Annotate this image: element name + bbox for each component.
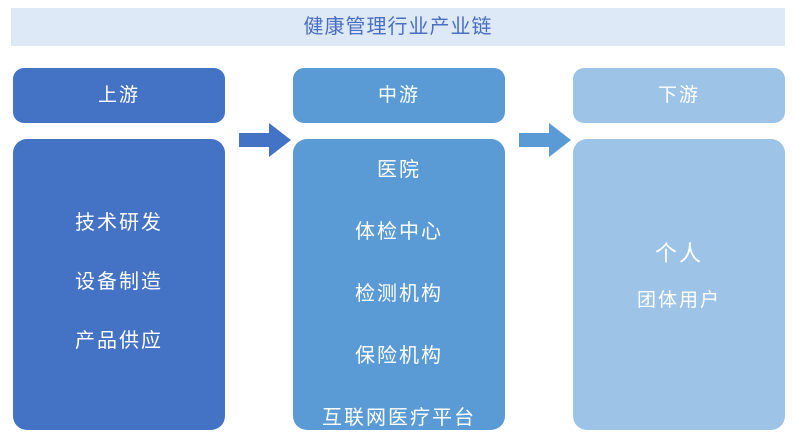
stage-item: 设备制造 [75,272,163,292]
stage-header-upstream[interactable]: 上游 [13,68,225,123]
stage-item: 检测机构 [355,284,443,304]
stage-body-midstream: 医院 体检中心 检测机构 保险机构 互联网医疗平台 [293,139,505,430]
stage-header-midstream[interactable]: 中游 [293,68,505,123]
stage-header-label-upstream: 上游 [98,86,140,105]
stage-item: 保险机构 [355,346,443,366]
stage-item: 互联网医疗平台 [322,408,476,428]
stage-header-label-midstream: 中游 [378,86,420,105]
arrow-right-icon [239,123,291,157]
stage-body-downstream: 个人 团体用户 [573,139,785,430]
stage-header-downstream[interactable]: 下游 [573,68,785,123]
diagram-title-banner: 健康管理行业产业链 [11,8,785,46]
page-title: 健康管理行业产业链 [304,17,493,37]
value-chain-diagram: 健康管理行业产业链 上游 技术研发 设备制造 产品供应 中游 医院 体检中心 检… [0,0,801,442]
stage-header-label-downstream: 下游 [658,86,700,105]
stage-item: 技术研发 [75,213,163,233]
arrow-right-icon [519,123,571,157]
stage-body-upstream: 技术研发 设备制造 产品供应 [13,139,225,430]
stage-item: 个人 [655,243,703,265]
stage-item: 团体用户 [637,291,721,310]
stage-item: 产品供应 [75,331,163,351]
stage-item: 医院 [377,160,421,180]
stage-item: 体检中心 [355,222,443,242]
